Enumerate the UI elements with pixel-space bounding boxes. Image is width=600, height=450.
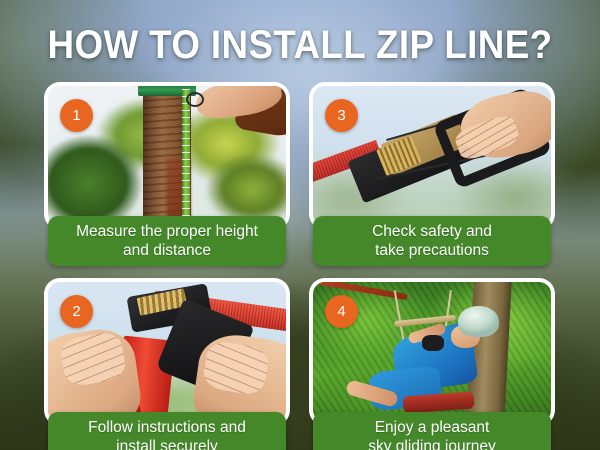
- step-card-4[interactable]: 4 Enjoy a pleasant sky gliding journey: [313, 282, 551, 450]
- step-caption-4: Enjoy a pleasant sky gliding journey: [368, 418, 496, 450]
- poster-root: HOW TO INSTALL ZIP LINE?: [0, 0, 600, 450]
- step-badge-1: 1: [60, 99, 93, 132]
- step-card-3[interactable]: 3 Check safety and take precautions: [313, 86, 551, 262]
- step-badge-2: 2: [60, 295, 93, 328]
- step-caption-1: Measure the proper height and distance: [76, 222, 258, 260]
- step-card-1[interactable]: 1 Measure the proper height and distance: [48, 86, 286, 262]
- step-badge-4: 4: [325, 295, 358, 328]
- step-banner-2: Follow instructions and install securely: [48, 412, 286, 450]
- steps-grid: 1 Measure the proper height and distance: [0, 0, 600, 450]
- step-caption-2: Follow instructions and install securely: [88, 418, 246, 450]
- step-banner-1: Measure the proper height and distance: [48, 216, 286, 266]
- step-banner-3: Check safety and take precautions: [313, 216, 551, 266]
- step-badge-3: 3: [325, 99, 358, 132]
- step-caption-3: Check safety and take precautions: [372, 222, 492, 260]
- step-banner-4: Enjoy a pleasant sky gliding journey: [313, 412, 551, 450]
- step-card-2[interactable]: 2 Follow instructions and install secure…: [48, 282, 286, 450]
